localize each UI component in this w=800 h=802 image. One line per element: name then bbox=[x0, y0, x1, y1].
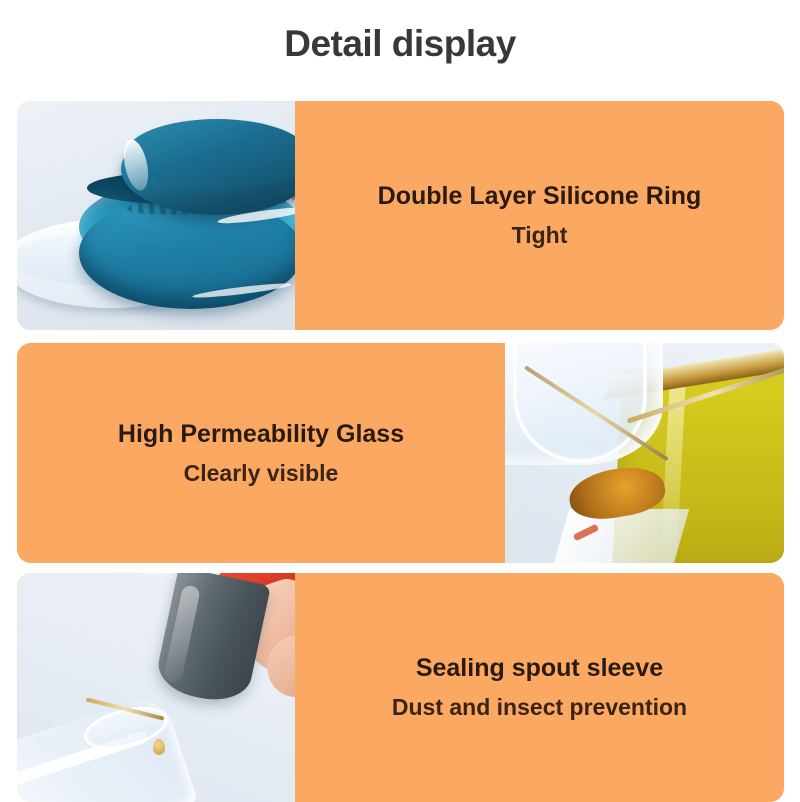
product-photo-glass-bottle bbox=[505, 343, 784, 563]
detail-display-page: Detail display Double Layer Silicone Rin… bbox=[0, 0, 800, 800]
feature-headline-3: Sealing spout sleeve bbox=[416, 653, 663, 684]
oil-droplet bbox=[153, 739, 165, 755]
page-title: Detail display bbox=[0, 24, 800, 65]
product-photo-spout-sleeve bbox=[17, 573, 295, 802]
feature-subline-1: Tight bbox=[512, 221, 568, 250]
feature-headline-1: Double Layer Silicone Ring bbox=[378, 181, 702, 212]
lid-cap-top-shape bbox=[125, 119, 295, 191]
feature-card-silicone-ring: Double Layer Silicone Ring Tight bbox=[17, 101, 784, 330]
feature-text-panel-1: Double Layer Silicone Ring Tight bbox=[295, 101, 784, 330]
feature-card-permeability-glass: High Permeability Glass Clearly visible bbox=[17, 343, 784, 563]
feature-subline-3: Dust and insect prevention bbox=[392, 693, 687, 722]
feature-headline-2: High Permeability Glass bbox=[118, 419, 404, 450]
feature-text-panel-3: Sealing spout sleeve Dust and insect pre… bbox=[295, 573, 784, 802]
feature-subline-2: Clearly visible bbox=[184, 459, 339, 488]
feature-text-panel-2: High Permeability Glass Clearly visible bbox=[17, 343, 505, 563]
feature-card-sealing-spout: Sealing spout sleeve Dust and insect pre… bbox=[17, 573, 784, 802]
product-photo-silicone-lid bbox=[17, 101, 295, 330]
